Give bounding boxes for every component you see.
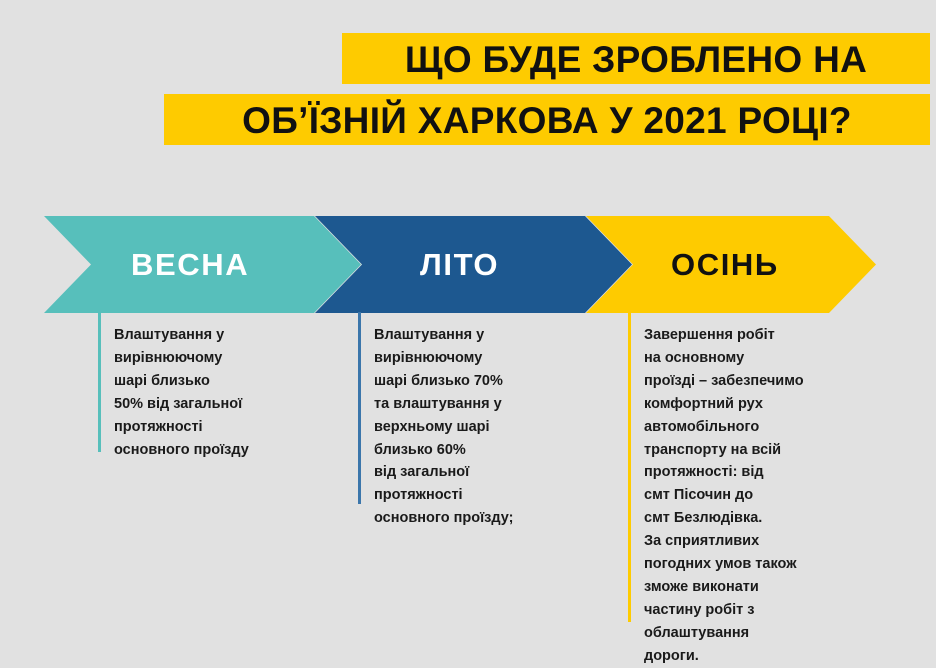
timeline-stage-spring-column: Влаштування у вирівнюючому шарі близько …: [98, 312, 328, 452]
timeline-stage-summer-column: Влаштування у вирівнюючому шарі близько …: [358, 312, 598, 504]
timeline-stage-spring-label: ВЕСНА: [131, 247, 249, 283]
timeline-stage-autumn-label: ОСІНЬ: [671, 247, 779, 283]
summer-column-rule: [358, 312, 361, 504]
title-line-1-text: ЩО БУДЕ ЗРОБЛЕНО НА: [342, 33, 930, 78]
title-line-2: ОБ’ЇЗНІЙ ХАРКОВА У 2021 РОЦІ?: [164, 94, 930, 145]
timeline-stage-spring-body: Влаштування у вирівнюючому шарі близько …: [114, 324, 249, 461]
timeline-stage-autumn-column: Завершення робіт на основному проїзді – …: [628, 312, 868, 622]
timeline-stage-summer-body: Влаштування у вирівнюючому шарі близько …: [374, 324, 513, 530]
timeline-stage-summer-label: ЛІТО: [420, 247, 499, 283]
spring-column-rule: [98, 312, 101, 452]
timeline-stage-spring-banner[interactable]: ВЕСНА: [44, 216, 361, 313]
title-line-1: ЩО БУДЕ ЗРОБЛЕНО НА: [342, 33, 930, 84]
infographic-page: { "page": { "background_color": "#e1e1e1…: [0, 0, 936, 662]
autumn-column-rule: [628, 312, 631, 622]
timeline-stage-summer-banner[interactable]: ЛІТО: [315, 216, 632, 313]
title-line-2-text: ОБ’ЇЗНІЙ ХАРКОВА У 2021 РОЦІ?: [164, 94, 930, 139]
timeline-chevron-row: ВЕСНА ЛІТО ОСІНЬ: [0, 216, 936, 313]
timeline-stage-autumn-body: Завершення робіт на основному проїзді – …: [644, 324, 804, 668]
